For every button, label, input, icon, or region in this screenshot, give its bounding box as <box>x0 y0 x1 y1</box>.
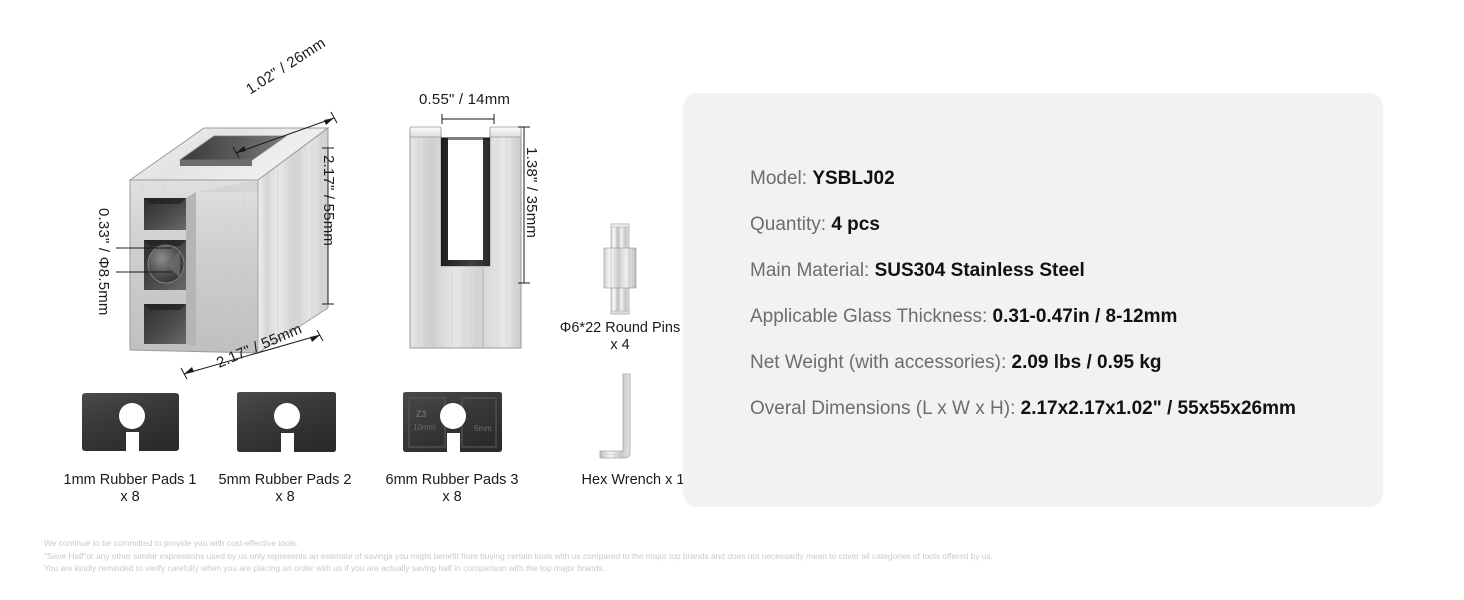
spec-row-main-material: Main Material: SUS304 Stainless Steel <box>750 260 1363 282</box>
dimension-label-depth: 1.02" / 26mm <box>243 34 329 98</box>
part-qty-rubber-pads-1: x 8 <box>120 489 139 505</box>
svg-text:6mm: 6mm <box>474 424 492 433</box>
hex-wrench-drawing <box>598 372 668 464</box>
spec-label-main-material: Main Material: <box>750 260 875 281</box>
dimension-rule-slot-width <box>440 112 496 126</box>
part-caption-rubber-pads-2: 5mm Rubber Pads 2 x 8 <box>205 472 365 506</box>
disclaimer-line-3: You are kindly reminded to verify carefu… <box>44 562 1424 575</box>
disclaimer-line-2: "Save Half"or any other similar expressi… <box>44 550 1424 563</box>
glass-clamp-side-view-drawing <box>408 118 523 350</box>
dimension-rule-slot-height <box>516 125 532 285</box>
part-label-round-pins: Φ6*22 Round Pins <box>560 320 680 336</box>
part-qty-round-pins: x 4 <box>610 337 629 353</box>
part-caption-round-pins: Φ6*22 Round Pins x 4 <box>545 320 695 354</box>
rubber-pad-2-drawing <box>234 391 339 455</box>
part-label-hex-wrench: Hex Wrench x 1 <box>582 472 685 488</box>
svg-text:10mm: 10mm <box>413 423 436 432</box>
part-caption-rubber-pads-1: 1mm Rubber Pads 1 x 8 <box>50 472 210 506</box>
round-pin-drawing <box>598 222 642 316</box>
spec-row-glass-thickness: Applicable Glass Thickness: 0.31-0.47in … <box>750 306 1363 328</box>
rubber-pad-1-drawing <box>78 392 183 454</box>
part-label-rubber-pads-3: 6mm Rubber Pads 3 <box>386 472 519 488</box>
part-label-rubber-pads-1: 1mm Rubber Pads 1 <box>64 472 197 488</box>
spec-value-quantity: 4 pcs <box>831 214 880 235</box>
spec-label-overall-dimensions: Overal Dimensions (L x W x H): <box>750 398 1021 419</box>
dimension-rule-height <box>320 146 336 306</box>
part-qty-rubber-pads-2: x 8 <box>275 489 294 505</box>
part-caption-rubber-pads-3: 6mm Rubber Pads 3 x 8 <box>372 472 532 506</box>
specification-panel: Model: YSBLJ02 Quantity: 4 pcs Main Mate… <box>683 93 1383 507</box>
dimension-label-slot-width: 0.55" / 14mm <box>419 91 510 108</box>
spec-label-glass-thickness: Applicable Glass Thickness: <box>750 306 993 327</box>
dimension-label-bore: 0.33" / Φ8.5mm <box>95 208 112 316</box>
spec-row-quantity: Quantity: 4 pcs <box>750 214 1363 236</box>
spec-value-model: YSBLJ02 <box>812 168 894 189</box>
spec-row-net-weight: Net Weight (with accessories): 2.09 lbs … <box>750 352 1363 374</box>
specification-list: Model: YSBLJ02 Quantity: 4 pcs Main Mate… <box>750 168 1363 444</box>
spec-row-model: Model: YSBLJ02 <box>750 168 1363 190</box>
spec-value-overall-dimensions: 2.17x2.17x1.02" / 55x55x26mm <box>1021 398 1296 419</box>
spec-value-net-weight: 2.09 lbs / 0.95 kg <box>1012 352 1162 373</box>
svg-text:Z3: Z3 <box>416 409 427 419</box>
product-spec-sheet: 1.02" / 26mm 2.17" / 55mm 0.33" / Φ8.5mm… <box>0 0 1464 600</box>
dimension-rule-width <box>178 330 328 380</box>
spec-value-glass-thickness: 0.31-0.47in / 8-12mm <box>993 306 1178 327</box>
spec-row-overall-dimensions: Overal Dimensions (L x W x H): 2.17x2.17… <box>750 398 1363 420</box>
rubber-pad-3-drawing: Z3 10mm 6mm <box>400 391 505 455</box>
spec-value-main-material: SUS304 Stainless Steel <box>875 260 1085 281</box>
dimension-leader-bore <box>116 244 174 276</box>
spec-label-model: Model: <box>750 168 812 189</box>
part-label-rubber-pads-2: 5mm Rubber Pads 2 <box>219 472 352 488</box>
spec-label-net-weight: Net Weight (with accessories): <box>750 352 1012 373</box>
part-qty-rubber-pads-3: x 8 <box>442 489 461 505</box>
disclaimer-text: We continue to be committed to provide y… <box>44 537 1424 575</box>
spec-label-quantity: Quantity: <box>750 214 831 235</box>
disclaimer-line-1: We continue to be committed to provide y… <box>44 537 1424 550</box>
